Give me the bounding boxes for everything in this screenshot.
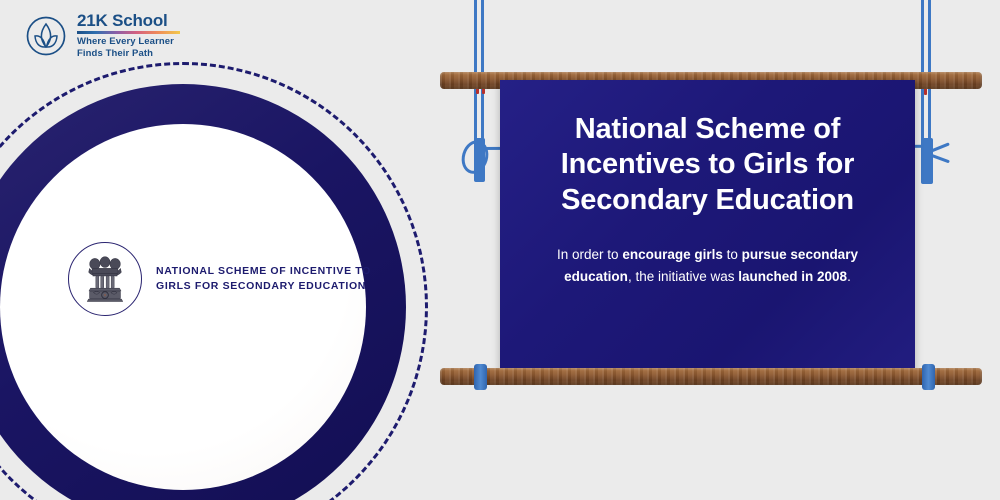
- banner-title-line3: Secondary Education: [561, 184, 854, 216]
- emblem-panel: NATIONAL SCHEME OF INCENTIVE TO GIRLS FO…: [0, 62, 428, 500]
- hanging-banner: National Scheme of Incentives to Girls f…: [430, 0, 990, 400]
- scheme-title: NATIONAL SCHEME OF INCENTIVE TO GIRLS FO…: [156, 264, 371, 294]
- rope-knot-right-wrap: [921, 138, 933, 184]
- body-seg-4: pursue: [742, 247, 787, 262]
- banner-title-line1: National Scheme of: [575, 113, 841, 145]
- lotus-in-circle-icon: [24, 14, 68, 58]
- body-seg-9: .: [847, 269, 851, 284]
- rope-bow-right-arm-upper: [930, 142, 950, 152]
- banner-cloth: National Scheme of Incentives to Girls f…: [500, 80, 915, 375]
- banner-title-line2: Incentives to Girls for: [561, 148, 855, 180]
- rope-wrap-bottom-right: [922, 364, 935, 390]
- banner-body-text: In order to encourage girls to pursue se…: [543, 244, 873, 288]
- scheme-logo: NATIONAL SCHEME OF INCENTIVE TO GIRLS FO…: [68, 242, 398, 316]
- banner-title: National Scheme of Incentives to Girls f…: [561, 112, 855, 218]
- brand-tagline: Where Every Learner Finds Their Path: [77, 36, 180, 60]
- body-seg-6: , the initiative: [628, 269, 707, 284]
- ashoka-lion-capital-emblem-icon: [68, 242, 142, 316]
- wooden-dowel-bottom: [440, 368, 982, 385]
- brand-name: 21K School: [77, 12, 180, 30]
- body-seg-2: encourage girls: [622, 247, 723, 262]
- brand-logo[interactable]: 21K School Where Every Learner Finds The…: [24, 12, 180, 60]
- brand-tagline-line2: Finds Their Path: [77, 48, 153, 59]
- scheme-title-line2: GIRLS FOR SECONDARY EDUCATION: [156, 280, 366, 292]
- brand-tagline-line1: Where Every Learner: [77, 36, 174, 47]
- rope-wrap-bottom-left: [474, 364, 487, 390]
- brand-text: 21K School Where Every Learner Finds The…: [77, 12, 180, 60]
- body-seg-1: In order to: [557, 247, 622, 262]
- body-seg-3: to: [723, 247, 742, 262]
- brand-gradient-rule: [77, 31, 180, 34]
- rope-bow-right-arm-lower: [930, 154, 950, 164]
- scheme-title-line1: NATIONAL SCHEME OF INCENTIVE TO: [156, 265, 371, 277]
- body-seg-7: was: [711, 269, 739, 284]
- rope-knot-left-wrap: [474, 138, 485, 182]
- body-seg-8: launched in 2008: [738, 269, 847, 284]
